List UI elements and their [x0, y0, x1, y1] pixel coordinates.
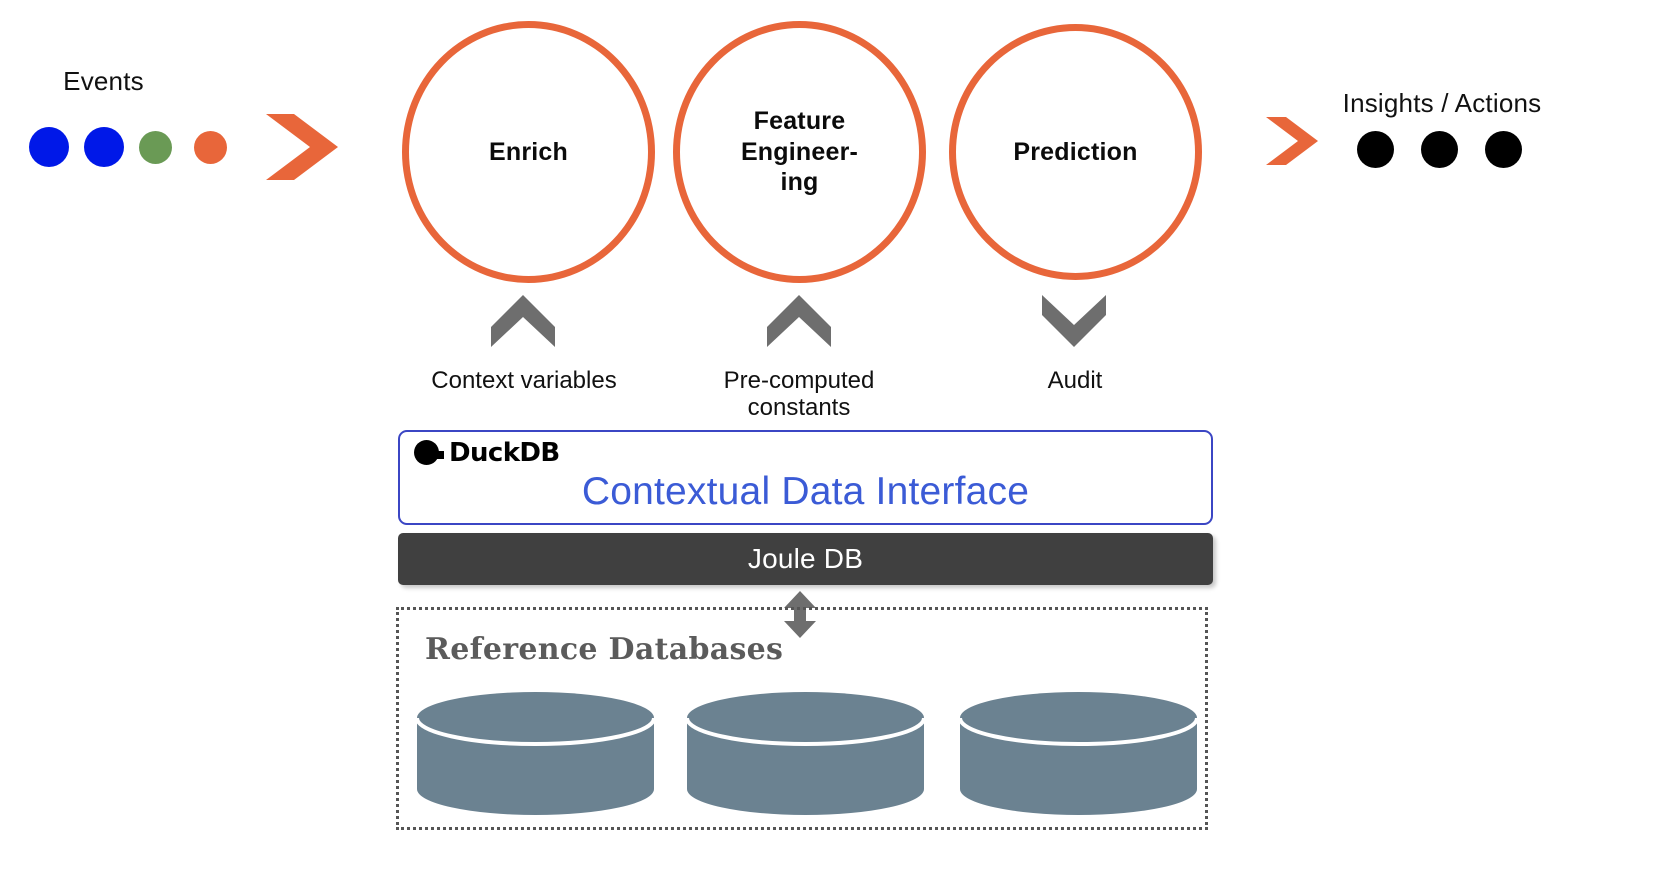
- chevron-right-icon: [264, 108, 342, 186]
- chevron-up-icon: [489, 293, 557, 349]
- database-cylinder-1: [417, 692, 654, 815]
- event-dot-blue-2: [84, 127, 124, 167]
- database-cylinder-3: [960, 692, 1197, 815]
- reference-databases-region: Reference Databases: [396, 607, 1208, 830]
- event-dot-blue-1: [29, 127, 69, 167]
- contextual-data-interface-panel: DuckDB Contextual Data Interface: [398, 430, 1213, 525]
- duckdb-wordmark: DuckDB: [449, 438, 560, 468]
- connector-label-precomputed: Pre-computedconstants: [679, 368, 919, 422]
- event-dot-orange: [194, 131, 227, 164]
- insights-actions-label: Insights / Actions: [1322, 88, 1562, 119]
- stage-label-enrich: Enrich: [489, 137, 568, 168]
- duckdb-logo-icon: [414, 440, 442, 467]
- stage-circle-feature-engineering: FeatureEngineer-ing: [673, 21, 926, 283]
- stage-label-feature-engineering: FeatureEngineer-ing: [741, 106, 858, 198]
- diagram-canvas: Events Enrich FeatureEngineer-ing Predic…: [0, 0, 1670, 896]
- chevron-up-icon: [765, 293, 833, 349]
- database-cylinder-2: [687, 692, 924, 815]
- connector-label-audit: Audit: [955, 368, 1195, 395]
- insight-dot-1: [1357, 131, 1394, 168]
- events-label: Events: [0, 66, 207, 97]
- reference-databases-title: Reference Databases: [425, 632, 783, 667]
- contextual-data-interface-title: Contextual Data Interface: [400, 470, 1211, 514]
- stage-circle-prediction: Prediction: [949, 24, 1202, 280]
- joule-db-label: Joule DB: [748, 543, 863, 575]
- chevron-down-icon: [1040, 293, 1108, 349]
- insight-dot-2: [1421, 131, 1458, 168]
- stage-circle-enrich: Enrich: [402, 21, 655, 283]
- event-dot-green: [139, 131, 172, 164]
- joule-db-bar: Joule DB: [398, 533, 1213, 585]
- duckdb-logo-group: DuckDB: [414, 438, 560, 468]
- stage-label-prediction: Prediction: [1013, 137, 1137, 168]
- connector-label-context: Context variables: [404, 368, 644, 395]
- chevron-right-icon: [1264, 113, 1320, 169]
- insight-dot-3: [1485, 131, 1522, 168]
